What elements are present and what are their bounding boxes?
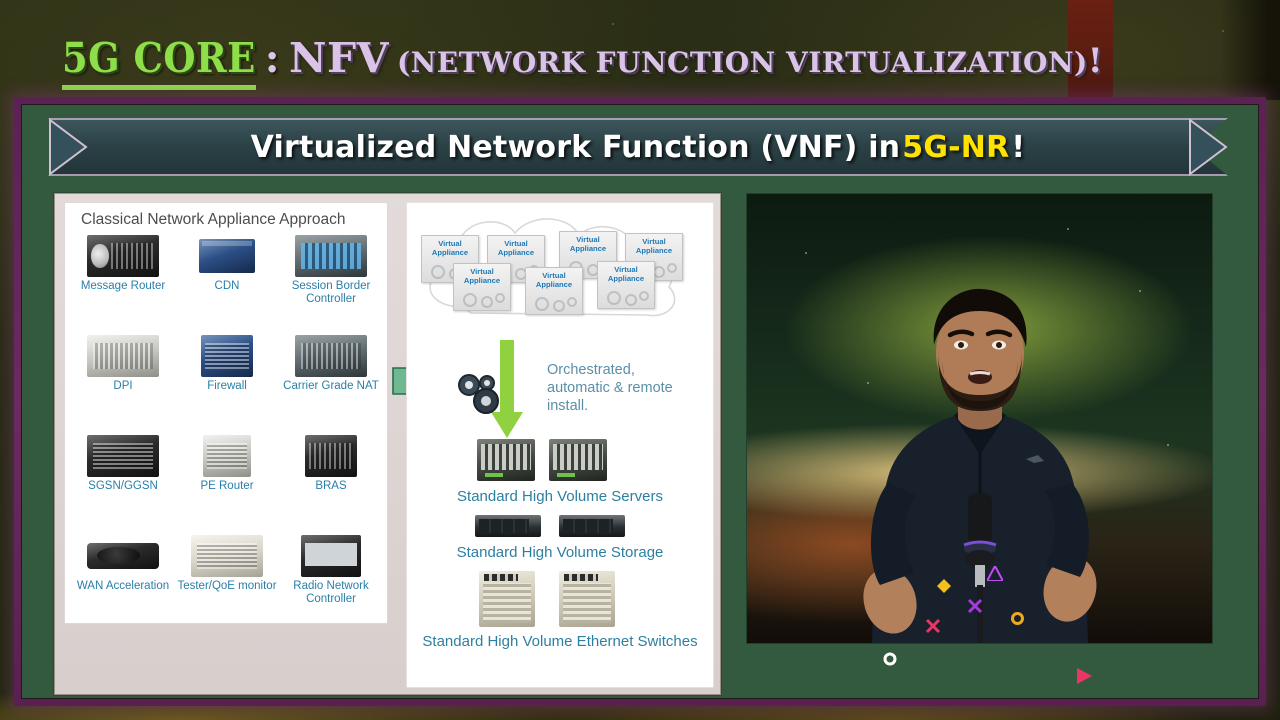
storage-group: [475, 515, 625, 537]
orchestration-note: Orchestrated, automatic & remote install…: [547, 361, 697, 415]
server-icon: [477, 439, 535, 481]
switch-icon: [559, 571, 615, 627]
appliance-label: BRAS: [315, 480, 346, 493]
content-frame-inner: Virtualized Network Function (VNF) in 5G…: [21, 104, 1259, 699]
appliance-item: DPI: [71, 335, 175, 433]
circle-shape-icon: [1011, 612, 1024, 625]
appliance-item: Firewall: [175, 335, 279, 433]
nfv-approach-panel: Virtual Appliance Virtual Appliance Virt…: [406, 202, 714, 688]
appliance-label: Tester/QoE monitor: [177, 580, 276, 593]
tester-icon: [191, 535, 263, 577]
gears-icon: [529, 294, 581, 312]
large-router-icon: [87, 435, 159, 477]
content-frame: Virtualized Network Function (VNF) in 5G…: [14, 97, 1266, 706]
switch-group: [479, 571, 615, 627]
appliance-grid: Message Router CDN Sessi: [71, 235, 383, 633]
backdrop-star: [1067, 228, 1069, 230]
storage-icon: [475, 515, 541, 537]
banner-title-highlight: 5G-NR: [902, 130, 1009, 165]
rack-server-icon: [87, 235, 159, 277]
appliance-item: Radio Network Controller: [279, 535, 383, 633]
beige-server-icon: [87, 335, 159, 377]
wan-appliance-icon: [87, 535, 159, 577]
appliance-item: WAN Acceleration: [71, 535, 175, 633]
title-nfv: NFV: [289, 34, 389, 82]
appliance-item: PE Router: [175, 435, 279, 533]
grey-chassis-icon: [295, 335, 367, 377]
title-exclamation: !: [1088, 41, 1103, 81]
switches-caption: Standard High Volume Ethernet Switches: [407, 633, 713, 651]
title-colon: :: [256, 35, 289, 82]
nfv-diagram: Classical Network Appliance Approach Mes…: [54, 193, 721, 695]
triangle-shape-icon: [987, 566, 1003, 581]
title-expansion: (NETWORK FUNCTION VIRTUALIZATION): [397, 46, 1088, 79]
appliance-item: Session Border Controller: [279, 235, 383, 333]
circle-shape-icon: [883, 652, 897, 666]
page-title: 5G CORE:NFV(NETWORK FUNCTION VIRTUALIZAT…: [0, 24, 1280, 92]
blue-box-icon: [191, 235, 263, 277]
server-group: [477, 439, 607, 481]
appliance-label: WAN Acceleration: [77, 580, 169, 593]
appliance-label: Radio Network Controller: [279, 580, 383, 606]
appliance-label: Firewall: [207, 380, 247, 393]
x-shape-icon: [967, 598, 983, 614]
virtual-appliance-box: Virtual Appliance: [525, 267, 583, 315]
section-banner: Virtualized Network Function (VNF) in 5G…: [48, 118, 1228, 176]
diamond-shape-icon: [937, 579, 951, 593]
appliance-label: SGSN/GGSN: [88, 480, 158, 493]
appliance-label: Message Router: [81, 280, 165, 293]
virtual-appliance-label: Virtual Appliance: [526, 272, 582, 289]
appliance-label: PE Router: [200, 480, 253, 493]
gears-icon: [457, 290, 509, 308]
backdrop-star: [805, 252, 807, 254]
appliance-item: Message Router: [71, 235, 175, 333]
appliance-item: CDN: [175, 235, 279, 333]
gears-icon: [601, 288, 653, 306]
virtual-appliance-label: Virtual Appliance: [422, 240, 478, 257]
blue-chassis-icon: [191, 335, 263, 377]
appliance-item: SGSN/GGSN: [71, 435, 175, 533]
appliance-label: Session Border Controller: [279, 280, 383, 306]
virtual-appliance-cluster: Virtual Appliance Virtual Appliance Virt…: [407, 203, 703, 333]
servers-caption: Standard High Volume Servers: [407, 488, 713, 506]
appliance-item: Tester/QoE monitor: [175, 535, 279, 633]
classical-panel-title: Classical Network Appliance Approach: [81, 211, 346, 229]
blade-chassis-icon: [295, 235, 367, 277]
classical-appliance-panel: Classical Network Appliance Approach Mes…: [64, 202, 388, 624]
appliance-label: Carrier Grade NAT: [283, 380, 379, 393]
appliance-item: BRAS: [279, 435, 383, 533]
rnc-icon: [295, 535, 367, 577]
x-shape-icon: [925, 618, 941, 634]
appliance-item: Carrier Grade NAT: [279, 335, 383, 433]
play-triangle-icon: [1074, 666, 1094, 686]
backdrop-star: [1167, 444, 1169, 446]
banner-title-main: Virtualized Network Function (VNF) in: [251, 130, 901, 165]
slide-root: 5G CORE:NFV(NETWORK FUNCTION VIRTUALIZAT…: [0, 0, 1280, 720]
appliance-label: CDN: [215, 280, 240, 293]
orchestration-gears-icon: [453, 371, 509, 415]
server-icon: [549, 439, 607, 481]
title-5g-core: 5G CORE: [62, 34, 256, 90]
virtual-appliance-box: Virtual Appliance: [597, 261, 655, 309]
bras-icon: [295, 435, 367, 477]
pe-router-icon: [191, 435, 263, 477]
virtual-appliance-box: Virtual Appliance: [453, 263, 511, 311]
virtual-appliance-label: Virtual Appliance: [598, 266, 654, 283]
backdrop-star: [1139, 290, 1141, 292]
presenter-video: [746, 193, 1213, 644]
appliance-label: DPI: [113, 380, 132, 393]
switch-icon: [479, 571, 535, 627]
storage-caption: Standard High Volume Storage: [407, 544, 713, 562]
banner-title-tail: !: [1011, 130, 1025, 165]
virtual-appliance-label: Virtual Appliance: [488, 240, 544, 257]
virtual-appliance-label: Virtual Appliance: [626, 238, 682, 255]
banner-title: Virtualized Network Function (VNF) in 5G…: [48, 118, 1228, 176]
storage-icon: [559, 515, 625, 537]
virtual-appliance-label: Virtual Appliance: [560, 236, 616, 253]
virtual-appliance-label: Virtual Appliance: [454, 268, 510, 285]
